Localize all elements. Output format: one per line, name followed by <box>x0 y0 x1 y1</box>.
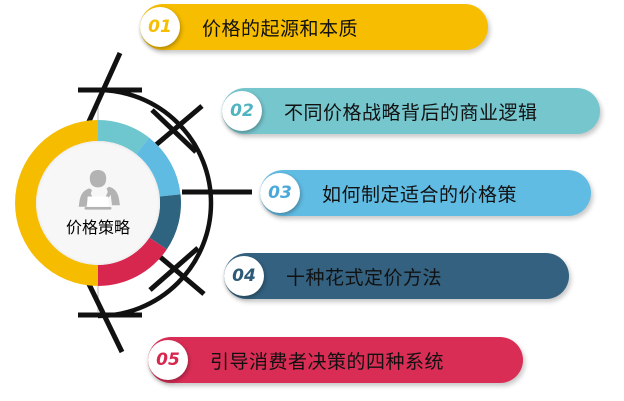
topic-row-02[interactable]: 02不同价格战略背后的商业逻辑 <box>222 88 600 134</box>
topic-number-badge-02[interactable]: 02 <box>222 91 262 131</box>
topic-row-03[interactable]: 03如何制定适合的价格策 <box>260 170 591 216</box>
center-hub: 价格策略 <box>13 118 183 288</box>
infographic-canvas: 价格策略 01价格的起源和本质02不同价格战略背后的商业逻辑03如何制定适合的价… <box>0 0 624 401</box>
center-label: 价格策略 <box>66 214 130 238</box>
topic-number-badge-05[interactable]: 05 <box>148 340 188 380</box>
topic-number-badge-03[interactable]: 03 <box>260 173 300 213</box>
topic-row-05[interactable]: 05引导消费者决策的四种系统 <box>148 337 523 383</box>
topic-row-04[interactable]: 04十种花式定价方法 <box>224 253 569 299</box>
hub-inner-circle: 价格策略 <box>36 141 160 265</box>
topic-label-05: 引导消费者决策的四种系统 <box>210 337 444 383</box>
topic-label-04: 十种花式定价方法 <box>286 253 442 299</box>
topic-number-badge-04[interactable]: 04 <box>224 256 264 296</box>
topic-label-02: 不同价格战略背后的商业逻辑 <box>284 88 538 134</box>
spoke-01 <box>86 53 120 128</box>
spoke-05 <box>86 278 122 352</box>
topic-label-01: 价格的起源和本质 <box>202 4 358 50</box>
topic-label-03: 如何制定适合的价格策 <box>322 170 517 216</box>
topic-number-badge-01[interactable]: 01 <box>140 7 180 47</box>
topic-row-01[interactable]: 01价格的起源和本质 <box>140 4 488 50</box>
businessman-icon <box>72 168 124 212</box>
